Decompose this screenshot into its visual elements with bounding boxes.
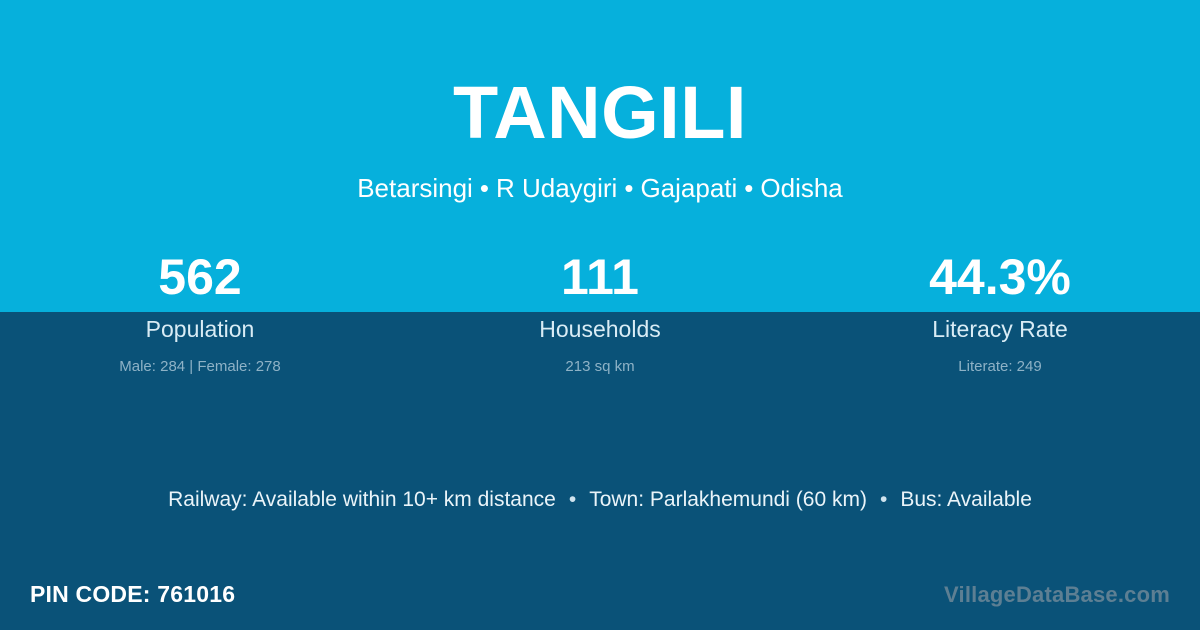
stat-value-population: 562 [0, 248, 400, 306]
stat-label-population: Population [0, 306, 400, 344]
stat-population: 562 Population Male: 284 | Female: 278 [0, 248, 400, 378]
stat-sub-literacy-rate: Literate: 249 [800, 344, 1200, 378]
pin-code-label: PIN CODE: 761016 [30, 581, 235, 608]
card-header: TANGILI Betarsingi•R Udaygiri•Gajapati•O… [0, 0, 1200, 203]
breadcrumb-item-state: Odisha [760, 173, 842, 203]
stat-value-households: 111 [400, 248, 800, 306]
stat-value-literacy-rate: 44.3% [800, 248, 1200, 306]
infrastructure-line: Railway: Available within 10+ km distanc… [0, 486, 1200, 514]
infrastructure-separator: • [556, 488, 589, 511]
breadcrumb-separator: • [473, 173, 496, 203]
breadcrumb-item-district: Gajapati [640, 173, 737, 203]
stats-row: 562 Population Male: 284 | Female: 278 1… [0, 248, 1200, 378]
stat-literacy-rate: 44.3% Literacy Rate Literate: 249 [800, 248, 1200, 378]
breadcrumb-item-gram-panchayat: Betarsingi [357, 173, 473, 203]
card-footer: PIN CODE: 761016 VillageDataBase.com [30, 581, 1170, 608]
breadcrumb-separator: • [617, 173, 640, 203]
breadcrumb-separator: • [737, 173, 760, 203]
site-branding: VillageDataBase.com [944, 582, 1170, 608]
infrastructure-separator: • [867, 488, 900, 511]
infrastructure-item-town: Town: Parlakhemundi (60 km) [589, 488, 867, 511]
stat-label-literacy-rate: Literacy Rate [800, 306, 1200, 344]
page-title: TANGILI [0, 0, 1200, 150]
infrastructure-item-bus: Bus: Available [900, 488, 1032, 511]
breadcrumb-item-block: R Udaygiri [496, 173, 617, 203]
infrastructure-item-railway: Railway: Available within 10+ km distanc… [168, 488, 556, 511]
stat-sub-households: 213 sq km [400, 344, 800, 378]
village-info-card: TANGILI Betarsingi•R Udaygiri•Gajapati•O… [0, 0, 1200, 630]
stat-label-households: Households [400, 306, 800, 344]
stat-sub-population: Male: 284 | Female: 278 [0, 344, 400, 378]
breadcrumb: Betarsingi•R Udaygiri•Gajapati•Odisha [0, 150, 1200, 203]
stat-households: 111 Households 213 sq km [400, 248, 800, 378]
